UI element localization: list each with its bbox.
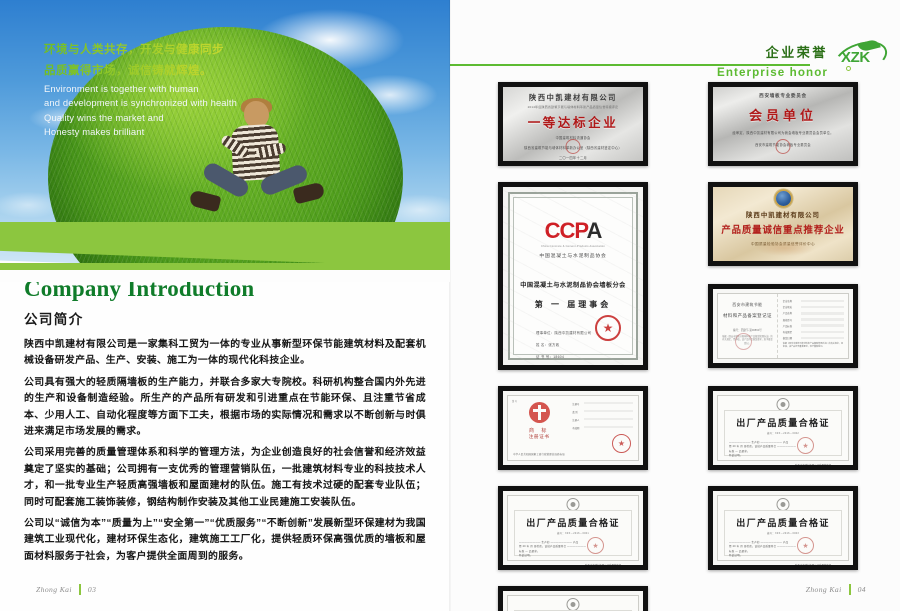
certificate-item[interactable]: 出厂产品质量合格证 编号：XZK－2016－0003 ———————— 生产的 … [498, 586, 648, 611]
plaque-company: 陕西中凯建材有限公司 [529, 93, 617, 103]
slogan-english: Environment is together with human and d… [44, 82, 237, 140]
trademark-left-panel: 第 号 商 标 注册证书 中华人民共和国国家工商行政管理总局商标局 [508, 396, 570, 460]
trademark-field-key: 注册号 [572, 402, 581, 406]
trademark-field-value [584, 418, 633, 420]
booklet-title-line-2: 材料和产品备案登记证 [722, 313, 773, 319]
trademark-field-value [584, 402, 633, 404]
footer-divider-right [849, 584, 851, 595]
slogan-english-line-3: Quality wins the market and [44, 111, 237, 125]
plaque-body: 经审定，陕西中凯建材有限公司为我会墙板专业委员会会员单位。 [732, 131, 833, 136]
ccpa-logo-chinese: 中国混凝土与水泥制品协会 [539, 252, 606, 259]
booklet-field-key: 产品标准 [783, 324, 799, 328]
cert-frame-building-energy-material-registration[interactable]: 西安市建筑节能 材料和产品备案登记证 编号：西建节 第00860号 依据《西安市… [708, 284, 858, 368]
trademark-header-number: 第 号 [512, 399, 517, 403]
enterprise-honor-header: 企业荣誉 Enterprise honor XZK [450, 22, 900, 84]
intro-paragraph-1: 陕西中凯建材有限公司是一家集科工贸为一体的专业从事新型环保节能建筑材料及配套机械… [24, 337, 426, 370]
quality-pass-title: 出厂产品质量合格证 [725, 416, 841, 429]
header-title-english: Enterprise honor [717, 66, 828, 79]
cert-frame-ccpa-first-council[interactable]: CCPA China Concrete & Cement-Products As… [498, 182, 648, 370]
slogan-english-line-2: and development is synchronized with hea… [44, 96, 237, 110]
trademark-field-value [584, 426, 633, 428]
quality-pass-line: 特此证明。 [729, 554, 837, 558]
trademark-field-value [584, 410, 633, 412]
booklet-field-value [801, 300, 844, 303]
cert-frame-factory-quality-pass-1[interactable]: 出厂产品质量合格证 编号：XZK－2016－0001 ———————— 生产的 … [498, 486, 648, 570]
quality-pass-issuer: 陕西中凯建材有限公司质量检验部 [725, 563, 841, 565]
plaque-subline: 2014年度陕西省建筑节能与墙体材料革新产品质量信誉等级评定 [528, 105, 619, 109]
trademark-field-key: 注册人 [572, 418, 581, 422]
red-official-seal-icon: ★ [595, 315, 621, 341]
quality-pass-line: 特此证明。 [729, 454, 837, 458]
booklet-field-value [801, 312, 844, 315]
booklet-field-value [801, 331, 844, 334]
footer-left: Zhong Kai 03 [36, 584, 96, 595]
quality-pass-seal-icon: ★ [797, 437, 814, 454]
booklet-title-line-1: 西安市建筑节能 [722, 302, 773, 308]
xzk-logo-icon: XZK [832, 42, 890, 75]
gold-award-plate: 陕西中凯建材有限公司 产品质量诚信重点推荐企业 中国质量检验协会质量信誉评价中心 [713, 187, 853, 261]
ccpa-field: 证 书 号：18604 [536, 354, 628, 359]
booklet-field-value [801, 337, 844, 340]
quality-pass-body: ———————— 生产的 ———————— 产品 经 20 年 月 日检验，该批… [725, 541, 841, 559]
plaque-seal-icon [776, 139, 791, 154]
cert-frame-trademark-registration[interactable]: 第 号 商 标 注册证书 中华人民共和国国家工商行政管理总局商标局 注册号 类 … [498, 386, 648, 470]
certificate-item[interactable]: 第 号 商 标 注册证书 中华人民共和国国家工商行政管理总局商标局 注册号 类 … [498, 386, 648, 470]
quality-pass-body: ———————— 生产的 ———————— 产品 经 20 年 月 日检验，该批… [725, 441, 841, 459]
footer-brand-right: Zhong Kai [806, 585, 842, 594]
trademark-name-line-1: 商 标 [529, 427, 549, 434]
booklet-field-value [801, 318, 844, 321]
right-page: 企业荣誉 Enterprise honor XZK 陕西中凯建材有限公司 201… [450, 0, 900, 611]
booklet-field-key: 规格型号 [783, 318, 799, 322]
trademark-logo-icon [529, 402, 550, 423]
quality-pass-seal-icon: ★ [587, 537, 604, 554]
plaque-date: 二〇一四年十二月 [559, 156, 587, 161]
quality-pass-title: 出厂产品质量合格证 [725, 516, 841, 529]
certificate-item[interactable]: 出厂产品质量合格证 编号：XZK－2016－0002 ———————— 生产的 … [708, 386, 858, 470]
ccpa-field: 姓 名：张方政 [536, 342, 628, 347]
ccpa-logo-icon: CCPA [545, 218, 602, 244]
certificate-item[interactable]: 出厂产品质量合格证 编号：XZK－2016－0003 ———————— 生产的 … [708, 486, 858, 570]
booklet-number: 编号：西建节 第00860号 [722, 328, 773, 332]
quality-pass-line: 特此证明。 [519, 554, 627, 558]
metal-plaque: 陕西中凯建材有限公司 2014年度陕西省建筑节能与墙体材料革新产品质量信誉等级评… [503, 87, 643, 161]
plaque-seal-icon [566, 139, 581, 154]
slogan-chinese: 环境与人类共存，开发与健康同步 品质赢得市场，诚信铸就辉煌。 [44, 40, 344, 82]
ccpa-logo-subtitle: China Concrete & Cement-Products Associa… [541, 245, 605, 248]
page-fold-shadow [449, 0, 451, 611]
quality-pass-body: ———————— 生产的 ———————— 产品 经 20 年 月 日检验，该批… [515, 541, 631, 559]
booklet-field-key: 企业名称 [783, 299, 799, 303]
ccpa-subtitle: 第 一 届理事会 [535, 299, 611, 310]
quality-pass-certificate: 出厂产品质量合格证 编号：XZK－2016－0001 ———————— 生产的 … [503, 491, 643, 565]
booklet-left-page: 西安市建筑节能 材料和产品备案登记证 编号：西建节 第00860号 依据《西安市… [718, 294, 778, 358]
gold-company: 陕西中凯建材有限公司 [746, 210, 820, 219]
page-title-chinese: 公司简介 [24, 308, 426, 328]
metal-plaque: 西安墙板专业委员会 会员单位 经审定，陕西中凯建材有限公司为我会墙板专业委员会会… [713, 87, 853, 161]
cert-frame-quality-credit-recommended-enterprise[interactable]: 陕西中凯建材有限公司 产品质量诚信重点推荐企业 中国质量检验协会质量信誉评价中心 [708, 182, 858, 266]
trademark-seal-icon: ★ [612, 434, 631, 453]
certificate-item[interactable]: 陕西中凯建材有限公司 2014年度陕西省建筑节能与墙体材料革新产品质量信誉等级评… [498, 82, 648, 166]
plaque-award: 一等达标企业 [528, 112, 619, 131]
trademark-certificate: 第 号 商 标 注册证书 中华人民共和国国家工商行政管理总局商标局 注册号 类 … [503, 391, 643, 465]
gold-award: 产品质量诚信重点推荐企业 [721, 222, 844, 236]
certificate-item[interactable]: 陕西中凯建材有限公司 产品质量诚信重点推荐企业 中国质量检验协会质量信誉评价中心 [708, 182, 858, 268]
cert-frame-factory-quality-pass-2[interactable]: 出厂产品质量合格证 编号：XZK－2016－0002 ———————— 生产的 … [708, 386, 858, 470]
booklet-field-key: 有效期至 [783, 330, 799, 334]
footer-page-number-left: 03 [88, 585, 96, 594]
trademark-field-key: 类 别 [572, 410, 581, 414]
trademark-field-key: 有效期 [572, 426, 581, 430]
booklet-right-page: 企业名称 企业地址 产品名称 规格型号 产品标准 有效期至 备案日期 依据《西安… [778, 294, 848, 358]
quality-pass-seal-icon: ★ [797, 537, 814, 554]
trademark-name-line-2: 注册证书 [529, 434, 550, 440]
intro-paragraph-4: 公司以“诚信为本”“质量为上”“安全第一”“优质服务”“不断创新”发展新型环保建… [24, 516, 426, 565]
cert-frame-factory-quality-pass-3[interactable]: 出厂产品质量合格证 编号：XZK－2016－0003 ———————— 生产的 … [708, 486, 858, 570]
booklet-field-key: 企业地址 [783, 305, 799, 309]
left-page: 环境与人类共存，开发与健康同步 品质赢得市场，诚信铸就辉煌。 Environme… [0, 0, 450, 611]
cert-frame-first-class-compliant-enterprise[interactable]: 陕西中凯建材有限公司 2014年度陕西省建筑节能与墙体材料革新产品质量信誉等级评… [498, 82, 648, 166]
booklet-field-key: 产品名称 [783, 311, 799, 315]
booklet-field-value [801, 306, 844, 309]
intro-paragraph-3: 公司采用完善的质量管理体系和科学的管理方法，为企业创造良好的社会信誉和经济效益奠… [24, 445, 426, 511]
quality-pass-certificate: 出厂产品质量合格证 编号：XZK－2016－0003 ———————— 生产的 … [713, 491, 853, 565]
plaque-award: 会员单位 [749, 105, 817, 124]
booklet-field-key: 备案日期 [783, 336, 799, 340]
cert-frame-factory-quality-pass-4[interactable]: 出厂产品质量合格证 编号：XZK－2016－0003 ———————— 生产的 … [498, 586, 648, 611]
ccpa-certificate: CCPA China Concrete & Cement-Products As… [503, 187, 643, 365]
slogan-chinese-line-2: 品质赢得市场，诚信铸就辉煌。 [44, 61, 344, 82]
gold-blot-decoration [755, 240, 815, 256]
quality-pass-subtitle: 编号：XZK－2016－0002 [725, 431, 841, 435]
intro-paragraph-2: 公司具有强大的轻质隔墙板的生产能力，并联合多家大专院校。科研机构整合国内外先进的… [24, 375, 426, 441]
booklet-side-note: 依据《西安市建筑节能材料和产品备案管理办法》的有关规定，经审核，该产品符合备案要… [783, 343, 844, 349]
booklet-seal-icon [735, 333, 752, 350]
green-diagonal-band [0, 222, 450, 282]
quality-pass-certificate: 出厂产品质量合格证 编号：XZK－2016－0002 ———————— 生产的 … [713, 391, 853, 465]
quality-pass-issuer: 陕西中凯建材有限公司质量检验部 [515, 563, 631, 565]
trademark-issuer: 中华人民共和国国家工商行政管理总局商标局 [513, 452, 565, 456]
footer-divider-left [79, 584, 81, 595]
company-introduction-section: Company Introduction 公司简介 陕西中凯建材有限公司是一家集… [0, 276, 450, 565]
slogan-english-line-4: Honesty makes brilliant [44, 125, 237, 139]
booklet-field-value [801, 324, 844, 327]
quality-pass-certificate: 出厂产品质量合格证 编号：XZK－2016－0003 ———————— 生产的 … [503, 591, 643, 611]
header-titles: 企业荣誉 Enterprise honor [717, 42, 828, 79]
xzk-logo-text: XZK [841, 49, 870, 66]
footer-page-number-right: 04 [858, 585, 866, 594]
footer-brand-left: Zhong Kai [36, 585, 72, 594]
certificate-item[interactable]: 出厂产品质量合格证 编号：XZK－2016－0001 ———————— 生产的 … [498, 486, 648, 570]
certificate-item[interactable]: CCPA China Concrete & Cement-Products As… [498, 182, 648, 370]
footer-right: Zhong Kai 04 [806, 584, 866, 595]
quality-pass-subtitle: 编号：XZK－2016－0003 [725, 531, 841, 535]
slogan-chinese-line-1: 环境与人类共存，开发与健康同步 [44, 40, 344, 61]
brochure-spread: 环境与人类共存，开发与健康同步 品质赢得市场，诚信铸就辉煌。 Environme… [0, 0, 900, 611]
certificate-grid: 陕西中凯建材有限公司 2014年度陕西省建筑节能与墙体材料革新产品质量信誉等级评… [498, 82, 858, 611]
cert-frame-member-unit[interactable]: 西安墙板专业委员会 会员单位 经审定，陕西中凯建材有限公司为我会墙板专业委员会会… [708, 82, 858, 166]
globe-emblem-icon [776, 191, 791, 206]
plaque-company: 西安墙板专业委员会 [759, 93, 807, 99]
ccpa-title: 中国混凝土与水泥制品协会墙板分会 [520, 280, 625, 289]
certificate-item[interactable]: 西安墙板专业委员会 会员单位 经审定，陕西中凯建材有限公司为我会墙板专业委员会会… [708, 82, 858, 166]
quality-pass-issuer: 陕西中凯建材有限公司质量检验部 [725, 463, 841, 465]
certificate-item[interactable]: 西安市建筑节能 材料和产品备案登记证 编号：西建节 第00860号 依据《西安市… [708, 284, 858, 370]
header-title-chinese: 企业荣誉 [717, 42, 828, 61]
registration-booklet: 西安市建筑节能 材料和产品备案登记证 编号：西建节 第00860号 依据《西安市… [713, 289, 853, 363]
quality-pass-title: 出厂产品质量合格证 [515, 516, 631, 529]
slogan-english-line-1: Environment is together with human [44, 82, 237, 96]
quality-pass-subtitle: 编号：XZK－2016－0001 [515, 531, 631, 535]
